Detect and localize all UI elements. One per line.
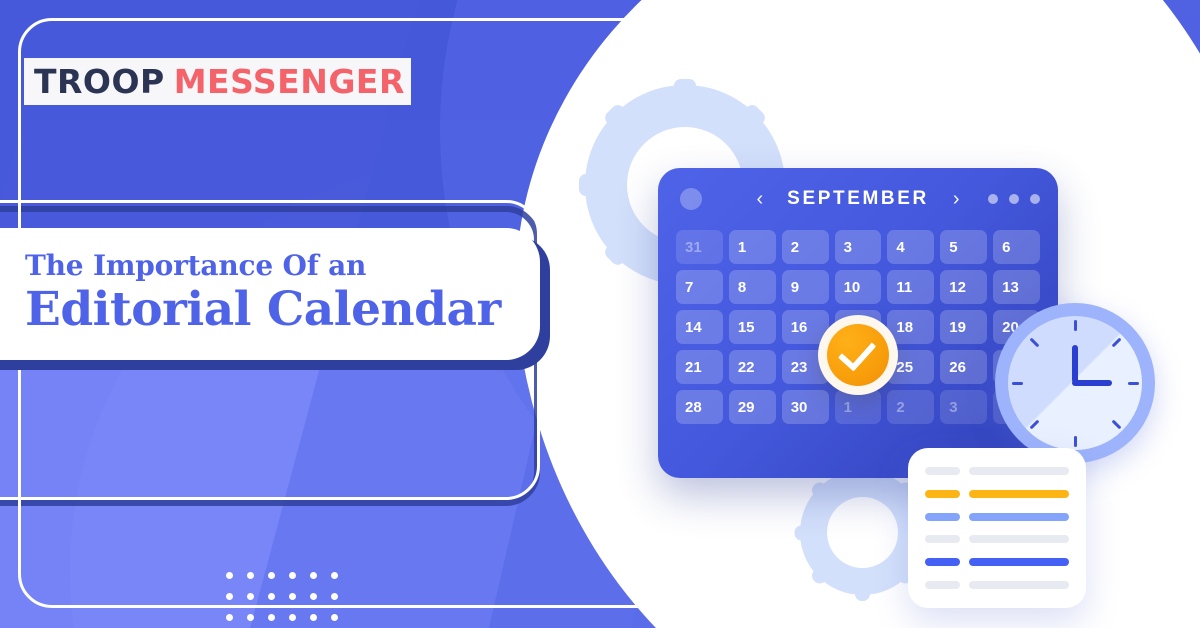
- clock-tick: [1074, 320, 1077, 331]
- decor-dot: [996, 68, 1003, 75]
- gear-icon: [800, 470, 925, 595]
- calendar-day-cell[interactable]: 2: [782, 230, 829, 264]
- calendar-day-cell[interactable]: 8: [729, 270, 776, 304]
- document-row-line: [969, 513, 1069, 521]
- next-month-icon[interactable]: ›: [953, 189, 960, 209]
- logo-word-troop: TROOP: [34, 62, 165, 101]
- calendar-day-cell[interactable]: 1: [729, 230, 776, 264]
- headline-line-1: The Importance Of an: [25, 251, 540, 282]
- calendar-menu-dots[interactable]: [988, 194, 1040, 204]
- document-row: [925, 467, 1069, 475]
- check-badge[interactable]: [818, 315, 898, 395]
- clock-tick: [1111, 337, 1121, 347]
- clock-tick: [1074, 436, 1077, 447]
- calendar-day-cell[interactable]: 4: [887, 230, 934, 264]
- brand-logo[interactable]: TROOP MESSENGER: [24, 58, 411, 105]
- decor-dot: [886, 24, 893, 31]
- decor-dot: [331, 572, 338, 579]
- decor-dot: [331, 593, 338, 600]
- decor-dot: [289, 572, 296, 579]
- decor-dot: [310, 572, 317, 579]
- decor-dot: [952, 68, 959, 75]
- menu-dot: [1030, 194, 1040, 204]
- decor-dot: [886, 46, 893, 53]
- calendar-month-label: SEPTEMBER: [787, 188, 929, 210]
- calendar-day-cell[interactable]: 14: [676, 310, 723, 344]
- decor-dot: [908, 2, 915, 9]
- document-row-line: [969, 535, 1069, 543]
- calendar-corner-dot: [680, 188, 702, 210]
- clock-icon: [995, 303, 1155, 463]
- calendar-day-cell[interactable]: 9: [782, 270, 829, 304]
- document-row-marker: [925, 490, 960, 498]
- decor-dot: [974, 46, 981, 53]
- decor-dot: [952, 46, 959, 53]
- decor-dot: [930, 46, 937, 53]
- decor-dot: [247, 572, 254, 579]
- decor-dot: [331, 614, 338, 621]
- decor-dot: [996, 2, 1003, 9]
- calendar-day-cell[interactable]: 15: [729, 310, 776, 344]
- decor-dot: [226, 614, 233, 621]
- decor-dot: [310, 614, 317, 621]
- page-title: Editorial Calendar: [25, 284, 540, 337]
- decor-dot: [952, 24, 959, 31]
- decor-dot: [908, 68, 915, 75]
- decor-dot: [908, 46, 915, 53]
- decor-dot: [247, 614, 254, 621]
- calendar-day-cell[interactable]: 3: [835, 230, 882, 264]
- dot-grid-top: [886, 2, 1018, 90]
- decor-dot: [974, 24, 981, 31]
- document-row-line: [969, 558, 1069, 566]
- document-row: [925, 535, 1069, 543]
- clock-tick: [1111, 419, 1121, 429]
- decor-dot: [886, 2, 893, 9]
- calendar-day-cell[interactable]: 21: [676, 350, 723, 384]
- document-row: [925, 490, 1069, 498]
- decor-dot: [289, 593, 296, 600]
- prev-month-icon[interactable]: ‹: [757, 189, 764, 209]
- check-icon: [827, 324, 889, 386]
- decor-dot: [952, 2, 959, 9]
- document-row-line: [969, 467, 1069, 475]
- calendar-header: ‹ SEPTEMBER ›: [658, 168, 1058, 230]
- calendar-day-cell[interactable]: 31: [676, 230, 723, 264]
- clock-minute-hand: [1072, 380, 1112, 386]
- decor-dot: [996, 46, 1003, 53]
- clock-tick: [1128, 382, 1139, 385]
- calendar-day-cell[interactable]: 7: [676, 270, 723, 304]
- calendar-day-cell[interactable]: 11: [887, 270, 934, 304]
- gear-hole: [827, 497, 898, 568]
- document-row-line: [969, 490, 1069, 498]
- calendar-day-cell[interactable]: 10: [835, 270, 882, 304]
- document-row: [925, 513, 1069, 521]
- calendar-day-cell[interactable]: 13: [993, 270, 1040, 304]
- calendar-day-cell[interactable]: 3: [940, 390, 987, 424]
- document-row-marker: [925, 558, 960, 566]
- calendar-day-cell[interactable]: 1: [835, 390, 882, 424]
- menu-dot: [1009, 194, 1019, 204]
- check-mark-glyph: [838, 332, 876, 371]
- calendar-day-cell[interactable]: 28: [676, 390, 723, 424]
- clock-hour-hand: [1072, 345, 1078, 383]
- decor-dot: [974, 68, 981, 75]
- decor-dot: [996, 24, 1003, 31]
- document-row: [925, 558, 1069, 566]
- calendar-day-cell[interactable]: 2: [887, 390, 934, 424]
- banner-canvas: ‹ SEPTEMBER › 31123456789101112131415161…: [0, 0, 1200, 628]
- decor-dot: [930, 68, 937, 75]
- document-row-marker: [925, 535, 960, 543]
- decor-dot: [289, 614, 296, 621]
- document-row-marker: [925, 467, 960, 475]
- dot-grid-bottom: [226, 572, 352, 628]
- menu-dot: [988, 194, 998, 204]
- calendar-day-cell[interactable]: 19: [940, 310, 987, 344]
- clock-tick: [1029, 337, 1039, 347]
- document-list-icon: [908, 448, 1086, 608]
- document-row-line: [969, 581, 1069, 589]
- decor-dot: [247, 593, 254, 600]
- document-row: [925, 581, 1069, 589]
- decor-dot: [268, 614, 275, 621]
- decor-dot: [974, 2, 981, 9]
- decor-dot: [268, 572, 275, 579]
- calendar-day-cell[interactable]: 5: [940, 230, 987, 264]
- clock-face: [1008, 316, 1142, 450]
- clock-tick: [1012, 382, 1023, 385]
- calendar-day-cell[interactable]: 22: [729, 350, 776, 384]
- decor-dot: [310, 593, 317, 600]
- decor-dot: [908, 24, 915, 31]
- headline-card: The Importance Of an Editorial Calendar: [0, 228, 540, 360]
- calendar-day-cell[interactable]: 30: [782, 390, 829, 424]
- decor-dot: [268, 593, 275, 600]
- decor-dot: [930, 24, 937, 31]
- calendar-day-cell[interactable]: 29: [729, 390, 776, 424]
- calendar-day-cell[interactable]: 6: [993, 230, 1040, 264]
- document-row-marker: [925, 581, 960, 589]
- document-row-marker: [925, 513, 960, 521]
- calendar-day-cell[interactable]: 26: [940, 350, 987, 384]
- decor-dot: [930, 2, 937, 9]
- decor-dot: [226, 593, 233, 600]
- decor-dot: [226, 572, 233, 579]
- calendar-day-cell[interactable]: 12: [940, 270, 987, 304]
- decor-dot: [886, 68, 893, 75]
- logo-word-messenger: MESSENGER: [174, 62, 405, 101]
- clock-tick: [1029, 419, 1039, 429]
